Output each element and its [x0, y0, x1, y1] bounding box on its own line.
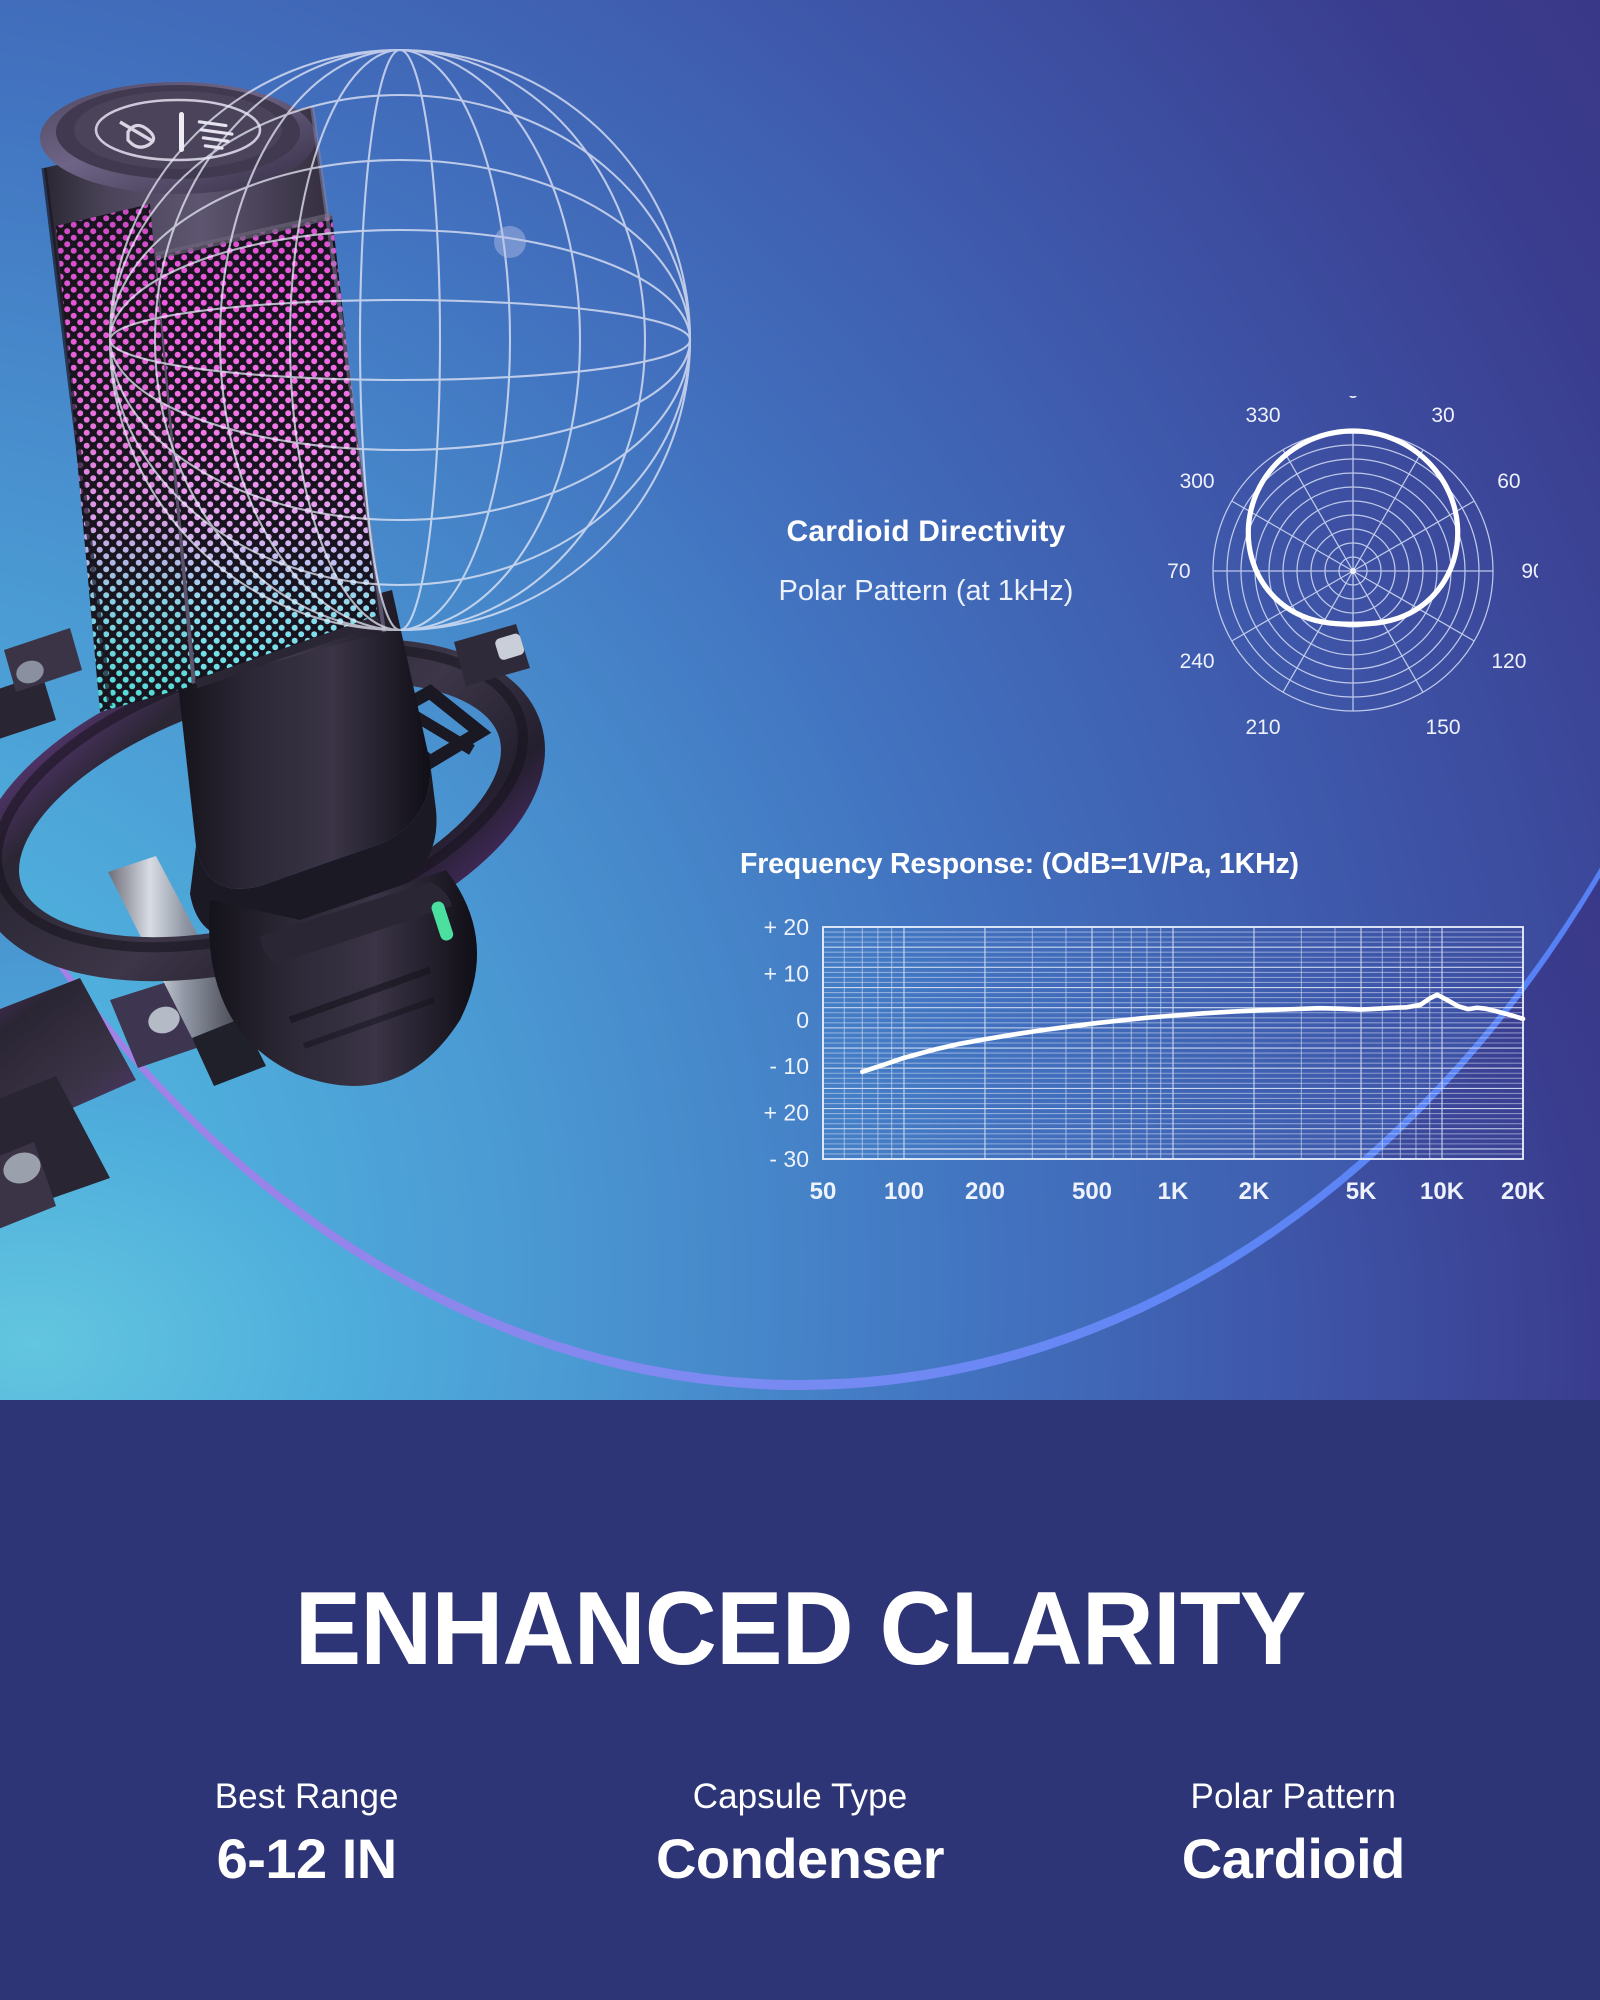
spec-value: Cardioid [1047, 1825, 1540, 1892]
polar-subtitle: Polar Pattern (at 1kHz) [700, 575, 1152, 608]
bottom-band [0, 1400, 1600, 2000]
fr-x-tick-label: 2K [1239, 1178, 1270, 1205]
polar-angle-label: 60 [1497, 470, 1520, 493]
fr-y-tick-label: + 10 [764, 960, 809, 986]
polar-angle-label: 300 [1180, 470, 1215, 493]
product-marketing-poster: Cardioid Directivity Polar Pattern (at 1… [0, 0, 1600, 2000]
fr-x-tick-label: 20K [1501, 1178, 1546, 1205]
directivity-wireframe-sphere [90, 30, 710, 650]
spec-label: Best Range [60, 1775, 553, 1819]
fr-y-tick-label: + 20 [764, 1100, 809, 1126]
polar-angle-label: 210 [1245, 716, 1280, 736]
page-title: ENHANCED CLARITY [32, 1570, 1568, 1689]
fr-y-tick-label: + 20 [764, 915, 809, 940]
polar-angle-label: 330 [1245, 404, 1280, 427]
fr-x-tick-label: 5K [1346, 1178, 1377, 1205]
fr-y-tick-label: - 30 [769, 1146, 809, 1172]
spec-item-capsule-type: Capsule Type Condenser [553, 1775, 1046, 1892]
frequency-response-title: Frequency Response: (OdB=1V/Pa, 1KHz) [740, 848, 1560, 881]
fr-x-tick-label: 1K [1158, 1178, 1189, 1205]
fr-x-tick-label: 10K [1420, 1178, 1465, 1205]
frequency-response-chart: + 20+ 100- 10+ 20- 30 501002005001K2K5K1… [728, 915, 1558, 1225]
polar-angle-label: 90 [1521, 560, 1538, 583]
fr-y-tick-label: 0 [796, 1007, 809, 1033]
polar-angle-label: 30 [1431, 404, 1454, 427]
polar-angle-label: 270 [1168, 560, 1191, 583]
fr-x-tick-label: 500 [1072, 1178, 1112, 1205]
polar-angle-label: 150 [1425, 716, 1460, 736]
fr-x-tick-labels: 501002005001K2K5K10K20K [810, 1178, 1546, 1205]
spec-list: Best Range 6-12 IN Capsule Type Condense… [60, 1775, 1540, 1892]
fr-y-tick-label: - 10 [769, 1053, 809, 1079]
fr-x-tick-label: 100 [884, 1178, 924, 1205]
polar-angle-label: 240 [1180, 650, 1215, 673]
polar-center-dot [1350, 568, 1356, 574]
fr-x-tick-label: 50 [810, 1178, 837, 1205]
spec-value: 6-12 IN [60, 1825, 553, 1892]
spec-label: Polar Pattern [1047, 1775, 1540, 1819]
spec-label: Capsule Type [553, 1775, 1046, 1819]
polar-angle-label: 0 [1347, 396, 1359, 403]
sphere-pole-node [494, 226, 526, 258]
spec-value: Condenser [553, 1825, 1046, 1892]
spec-item-best-range: Best Range 6-12 IN [60, 1775, 553, 1892]
hero-section: Cardioid Directivity Polar Pattern (at 1… [0, 0, 1600, 1400]
polar-title: Cardioid Directivity [716, 515, 1136, 549]
microphone-illustration [0, 20, 740, 1290]
polar-angle-label: 120 [1491, 650, 1526, 673]
polar-pattern-chart: 0306090120150180210240270300330 [1168, 396, 1538, 736]
fr-y-tick-labels: + 20+ 100- 10+ 20- 30 [764, 915, 809, 1172]
spec-item-polar-pattern: Polar Pattern Cardioid [1047, 1775, 1540, 1892]
fr-x-tick-label: 200 [965, 1178, 1005, 1205]
fr-grid [823, 927, 1523, 1159]
